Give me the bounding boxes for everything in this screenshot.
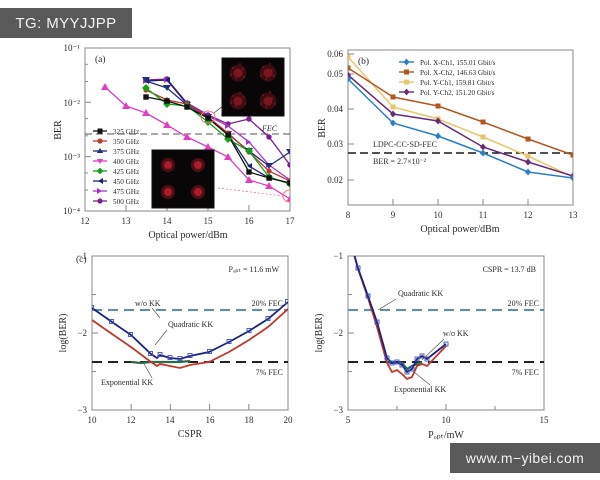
panel-c-ytick-0: −1 bbox=[77, 251, 87, 261]
panel-a-ytick-1: 10⁻² bbox=[64, 98, 81, 108]
panel-a-legend-label-3: 400 GHz bbox=[113, 158, 139, 166]
panel-b-legend-label-3: Pol. Y-Ch2, 151.20 Gbit/s bbox=[420, 89, 495, 97]
panel-a-xtick-4: 16 bbox=[245, 216, 255, 226]
panel-c-xtick-5: 20 bbox=[284, 415, 294, 425]
panel-b-ytick-0: 0.02 bbox=[327, 175, 343, 185]
panel-d-anno-quad: Quadratic KK bbox=[398, 289, 443, 298]
panel-c-xtick-4: 18 bbox=[245, 415, 255, 425]
panel-d-ytick-0: −1 bbox=[333, 251, 343, 261]
panel-a-xlabel: Optical power/dBm bbox=[148, 230, 227, 241]
panel-a-legend-label-6: 475 GHz bbox=[113, 188, 139, 196]
multi-panel-figure: (a) 10⁻¹ 10⁻² 10⁻³ 10⁻⁴ BER bbox=[0, 0, 600, 480]
panel-c-ytick-1: −2 bbox=[77, 328, 87, 338]
panel-d-fec7-label: 7% FEC bbox=[512, 368, 539, 377]
panel-b-xtick-4: 12 bbox=[524, 210, 533, 220]
panel-a-legend-label-5: 450 GHz bbox=[113, 178, 139, 186]
panel-c-anno-quad: Quadratic KK bbox=[168, 320, 213, 329]
panel-b-legend-label-1: Pol. X-Ch2, 146.63 Gbit/s bbox=[420, 69, 496, 77]
inset-lower-bg bbox=[152, 150, 214, 208]
panel-c-anno-wokk: w/o KK bbox=[135, 299, 161, 308]
panel-b-ytick-3: 0.05 bbox=[327, 69, 343, 79]
panel-d-ytick-1: −2 bbox=[333, 328, 343, 338]
panel-a-inset-upper bbox=[222, 58, 284, 116]
panel-b-xtick-5: 13 bbox=[569, 210, 579, 220]
panel-d-xtick-1: 10 bbox=[442, 415, 452, 425]
panel-c-anno-exp: Exponential KK bbox=[101, 378, 153, 387]
panel-b-xlabel: Optical power/dBm bbox=[420, 224, 499, 235]
panel-c-note: Pₒₚₜ = 11.6 mW bbox=[228, 265, 279, 274]
panel-a: (a) 10⁻¹ 10⁻² 10⁻³ 10⁻⁴ BER bbox=[53, 43, 297, 241]
panel-c-xlabel: CSPR bbox=[178, 429, 203, 440]
panel-b-fec-text-1: LDPC-CC-SD-FEC bbox=[373, 140, 437, 149]
panel-b-xtick-3: 11 bbox=[479, 210, 488, 220]
panel-a-ytick-0: 10⁻¹ bbox=[64, 43, 81, 53]
panel-a-ylabel: BER bbox=[53, 120, 64, 140]
inset-upper-bg bbox=[222, 58, 284, 116]
panel-b-xtick-0: 8 bbox=[346, 210, 351, 220]
panel-c-xtick-1: 12 bbox=[127, 415, 136, 425]
panel-a-legend-label-4: 425 GHz bbox=[113, 168, 139, 176]
panel-b-xtick-2: 10 bbox=[434, 210, 444, 220]
panel-a-legend-label-2: 375 GHz bbox=[113, 148, 139, 156]
panel-d-anno-exp: Exponential KK bbox=[394, 385, 446, 394]
panel-b-ytick-1: 0.03 bbox=[327, 139, 343, 149]
panel-a-tag: (a) bbox=[95, 54, 106, 65]
panel-b-xtick-1: 9 bbox=[391, 210, 396, 220]
panel-b-legend-label-0: Pol. X-Ch1, 155.01 Gbit/s bbox=[420, 59, 496, 67]
panel-a-legend-label-0: 325 GHz bbox=[113, 128, 139, 136]
panel-a-legend-label-1: 350 GHz bbox=[113, 138, 139, 146]
panel-c-fec7-label: 7% FEC bbox=[256, 368, 283, 377]
panel-a-inset-lower bbox=[152, 150, 214, 208]
panel-d-xtick-2: 15 bbox=[540, 415, 550, 425]
panel-c-xtick-0: 10 bbox=[88, 415, 98, 425]
panel-c-ytick-2: −3 bbox=[77, 405, 87, 415]
panel-d-ylabel: log(BER) bbox=[314, 314, 325, 353]
panel-c-fec20-label: 20% FEC bbox=[252, 299, 283, 308]
panel-b-tag: (b) bbox=[358, 56, 369, 67]
panel-a-legend-label-7: 500 GHz bbox=[113, 198, 139, 206]
panel-a-xtick-3: 15 bbox=[204, 216, 214, 226]
panel-a-xtick-1: 13 bbox=[122, 216, 132, 226]
panel-c-xtick-2: 14 bbox=[166, 415, 176, 425]
panel-b-ytick-4: 0.06 bbox=[327, 49, 343, 59]
site-watermark-badge: www.m−yibei.com bbox=[450, 443, 600, 473]
panel-d-anno-wokk: w/o KK bbox=[443, 329, 469, 338]
panel-b-ytick-2: 0.04 bbox=[327, 104, 343, 114]
panel-a-xtick-0: 12 bbox=[81, 216, 90, 226]
panel-b-legend-label-2: Pol. Y-Ch1, 159.81 Gbit/s bbox=[420, 79, 495, 87]
panel-d-xtick-0: 5 bbox=[346, 415, 351, 425]
panel-d-ytick-2: −3 bbox=[333, 405, 343, 415]
panel-a-xtick-2: 14 bbox=[163, 216, 173, 226]
panel-d-xlabel: Pₒₚₜ/mW bbox=[428, 430, 464, 441]
panel-d-fec20-label: 20% FEC bbox=[508, 299, 539, 308]
panel-a-ytick-3: 10⁻⁴ bbox=[63, 206, 80, 216]
panel-b-fec-text-2: BER = 2.7×10⁻² bbox=[373, 157, 427, 166]
panel-c-ylabel: log(BER) bbox=[58, 314, 69, 353]
panel-a-fec-label: FEC bbox=[261, 124, 278, 133]
figure-canvas: (a) 10⁻¹ 10⁻² 10⁻³ 10⁻⁴ BER bbox=[0, 0, 600, 480]
panel-a-ytick-2: 10⁻³ bbox=[64, 152, 81, 162]
panel-b-ylabel: BER bbox=[317, 118, 328, 138]
panel-c-xtick-3: 16 bbox=[206, 415, 216, 425]
panel-a-xtick-5: 17 bbox=[286, 216, 296, 226]
tg-watermark-badge: TG: MYYJJPP bbox=[0, 8, 132, 38]
panel-d-note: CSPR = 13.7 dB bbox=[483, 265, 536, 274]
